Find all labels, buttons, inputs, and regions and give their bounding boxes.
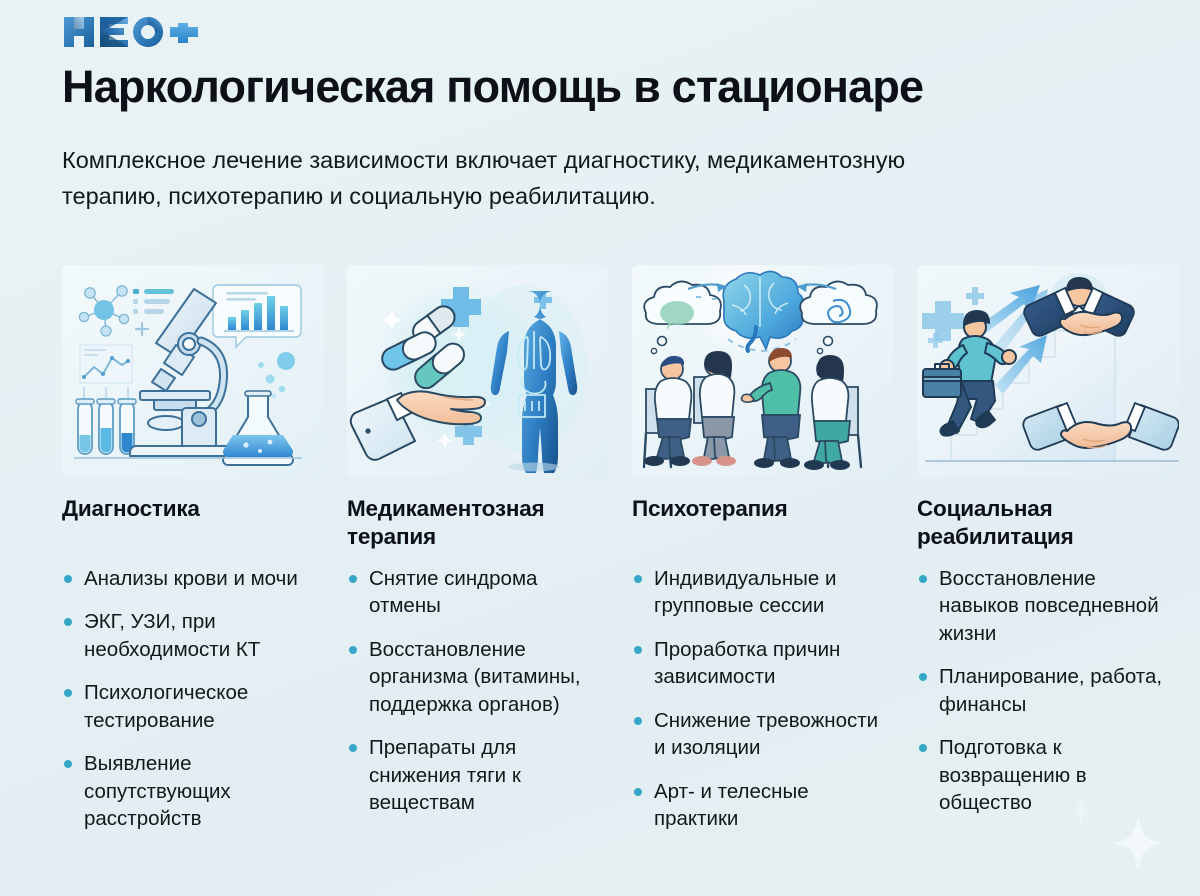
list-item: Проработка причин зависимости <box>632 636 891 691</box>
list-item-text: Подготовка к возвращению в общество <box>939 736 1087 814</box>
list-item: Снятие синдрома отмены <box>347 565 606 620</box>
bullet-dot-icon <box>64 689 72 697</box>
bullet-dot-icon <box>64 575 72 583</box>
list-item: Индивидуальные и групповые сессии <box>632 565 891 620</box>
list-item-text: Восстановление навыков повседневной жизн… <box>939 567 1159 645</box>
bullet-dot-icon <box>634 717 642 725</box>
list-item: Препараты для снижения тяги к веществам <box>347 734 606 816</box>
neo-plus-logo-icon <box>62 13 202 51</box>
bullet-dot-icon <box>64 618 72 626</box>
bullet-dot-icon <box>634 646 642 654</box>
bullet-dot-icon <box>349 646 357 654</box>
list-item: Арт- и телесные практики <box>632 778 891 833</box>
bullet-list-social-rehab: Восстановление навыков повседневной жизн… <box>917 565 1176 817</box>
microscope-lab-illustration-icon <box>62 265 324 477</box>
bullet-list-psychotherapy: Индивидуальные и групповые сессии Прораб… <box>632 565 891 833</box>
list-item-text: Планирование, работа, финансы <box>939 665 1162 715</box>
column-medication: Медикаментозная терапия Снятие синдрома … <box>335 265 620 833</box>
list-item-text: Восстановление организма (витамины, подд… <box>369 638 581 716</box>
brand-logo <box>62 12 202 52</box>
list-item-text: Проработка причин зависимости <box>654 638 840 688</box>
bullet-dot-icon <box>919 575 927 583</box>
list-item-text: Препараты для снижения тяги к веществам <box>369 736 521 814</box>
list-item: Планирование, работа, финансы <box>917 663 1176 718</box>
list-item: Восстановление навыков повседневной жизн… <box>917 565 1176 647</box>
list-item: Анализы крови и мочи <box>62 565 321 592</box>
column-title-psychotherapy: Психотерапия <box>632 495 891 551</box>
infographic-page: Наркологическая помощь в стационаре Комп… <box>0 0 1200 896</box>
list-item: Восстановление организма (витамины, подд… <box>347 636 606 718</box>
column-social-rehab: Социальная реабилитация Восстановление н… <box>905 265 1190 833</box>
bullet-dot-icon <box>919 744 927 752</box>
page-subtitle: Комплексное лечение зависимости включает… <box>62 143 962 214</box>
list-item-text: Индивидуальные и групповые сессии <box>654 567 836 617</box>
column-diagnostics: Диагностика Анализы крови и мочи ЭКГ, УЗ… <box>50 265 335 833</box>
bullet-dot-icon <box>919 673 927 681</box>
column-title-diagnostics: Диагностика <box>62 495 321 551</box>
list-item-text: Снижение тревожности и изоляции <box>654 709 878 759</box>
service-columns: Диагностика Анализы крови и мочи ЭКГ, УЗ… <box>50 265 1180 833</box>
list-item-text: Выявление сопутствующих расстройств <box>84 752 231 830</box>
list-item-text: ЭКГ, УЗИ, при необходимости КТ <box>84 610 260 660</box>
bullet-dot-icon <box>634 575 642 583</box>
bullet-list-medication: Снятие синдрома отмены Восстановление ор… <box>347 565 606 817</box>
column-psychotherapy: Психотерапия Индивидуальные и групповые … <box>620 265 905 833</box>
list-item-text: Психологическое тестирование <box>84 681 248 731</box>
list-item: Выявление сопутствующих расстройств <box>62 750 321 832</box>
column-title-medication: Медикаментозная терапия <box>347 495 606 551</box>
bullet-dot-icon <box>349 575 357 583</box>
bullet-dot-icon <box>349 744 357 752</box>
group-therapy-brain-illustration-icon <box>632 265 894 477</box>
page-title: Наркологическая помощь в стационаре <box>62 62 1152 112</box>
column-title-social-rehab: Социальная реабилитация <box>917 495 1176 551</box>
hand-with-pills-body-illustration-icon <box>347 265 609 477</box>
stairs-handshake-illustration-icon <box>917 265 1179 477</box>
bullet-dot-icon <box>634 788 642 796</box>
list-item-text: Анализы крови и мочи <box>84 567 298 590</box>
list-item: Подготовка к возвращению в общество <box>917 734 1176 816</box>
list-item-text: Снятие синдрома отмены <box>369 567 537 617</box>
list-item: Снижение тревожности и изоляции <box>632 707 891 762</box>
bullet-dot-icon <box>64 760 72 768</box>
list-item-text: Арт- и телесные практики <box>654 780 809 830</box>
bullet-list-diagnostics: Анализы крови и мочи ЭКГ, УЗИ, при необх… <box>62 565 321 833</box>
list-item: ЭКГ, УЗИ, при необходимости КТ <box>62 608 321 663</box>
list-item: Психологическое тестирование <box>62 679 321 734</box>
